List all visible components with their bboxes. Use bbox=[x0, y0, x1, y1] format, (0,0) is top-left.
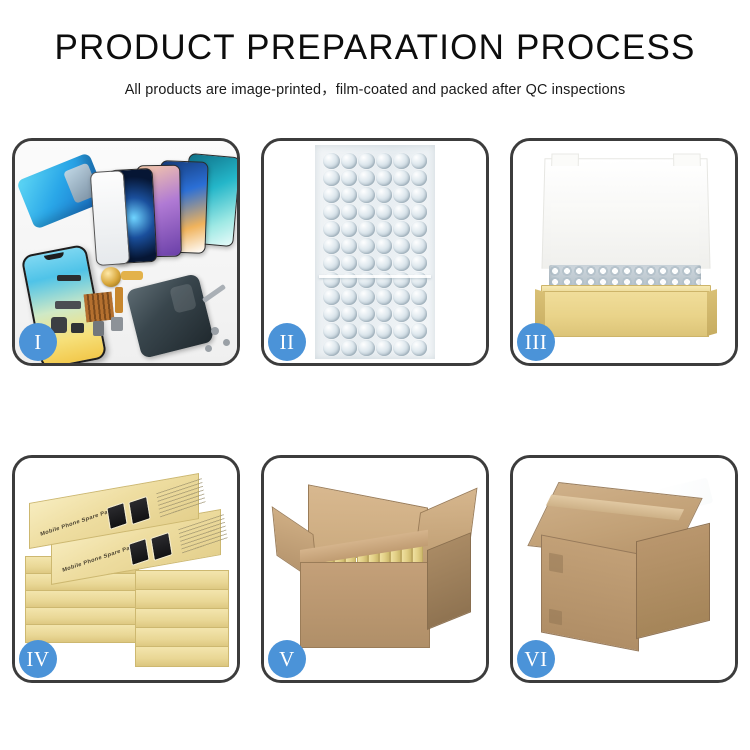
part-tweezers-icon bbox=[202, 284, 226, 303]
process-step-card-5: V bbox=[261, 455, 489, 683]
process-step-card-2: II bbox=[261, 138, 489, 366]
carton-side-panel bbox=[427, 532, 471, 630]
bubble-grid bbox=[323, 153, 427, 347]
page-subtitle: All products are image-printed，film-coat… bbox=[0, 78, 750, 99]
part-small-block-icon bbox=[71, 323, 84, 333]
process-step-card-6: VI bbox=[510, 455, 738, 683]
box-foam-liner bbox=[551, 203, 699, 267]
part-strip-icon bbox=[57, 275, 81, 281]
circuit-chip-icon bbox=[84, 292, 115, 323]
part-gold-connector-icon bbox=[121, 271, 143, 280]
phone-screen-white-icon bbox=[90, 170, 130, 266]
step-badge-1: I bbox=[19, 323, 57, 361]
box-stack: Mobile Phone Spare Parts Mobile Phone Sp… bbox=[19, 472, 237, 672]
part-screw-icon bbox=[223, 339, 230, 346]
process-step-card-3: III bbox=[510, 138, 738, 366]
part-flex-cable-icon bbox=[115, 287, 123, 313]
step-badge-2: II bbox=[268, 323, 306, 361]
phone-back-housing-icon bbox=[126, 273, 215, 359]
part-button-icon bbox=[93, 321, 104, 336]
part-screw-icon bbox=[211, 327, 219, 335]
wrap-seam bbox=[319, 275, 431, 278]
step-badge-3: III bbox=[517, 323, 555, 361]
process-step-card-1: I bbox=[12, 138, 240, 366]
box-label-text: Mobile Phone Spare Parts bbox=[62, 543, 138, 574]
step-badge-5: V bbox=[268, 640, 306, 678]
part-vibrator-icon bbox=[111, 317, 123, 331]
carton-handle-tab bbox=[549, 553, 563, 574]
process-step-card-4: Mobile Phone Spare Parts Mobile Phone Sp… bbox=[12, 455, 240, 683]
box-label-text: Mobile Phone Spare Parts bbox=[40, 507, 116, 538]
part-screw-icon bbox=[205, 345, 212, 352]
process-step-grid: I II bbox=[12, 138, 738, 683]
carton-handle-tab bbox=[549, 609, 562, 626]
page-header: PRODUCT PREPARATION PROCESS All products… bbox=[0, 0, 750, 99]
step-badge-4: IV bbox=[19, 640, 57, 678]
phone-lineup-group bbox=[93, 153, 237, 261]
part-bracket-icon bbox=[55, 301, 81, 309]
page-title: PRODUCT PREPARATION PROCESS bbox=[0, 30, 750, 67]
sealed-carton-front bbox=[541, 534, 639, 651]
speaker-coil-icon bbox=[101, 267, 121, 287]
step-badge-6: VI bbox=[517, 640, 555, 678]
sealed-carton-side bbox=[636, 523, 710, 639]
box-front-panel bbox=[543, 291, 709, 337]
carton-front-panel bbox=[300, 562, 430, 648]
